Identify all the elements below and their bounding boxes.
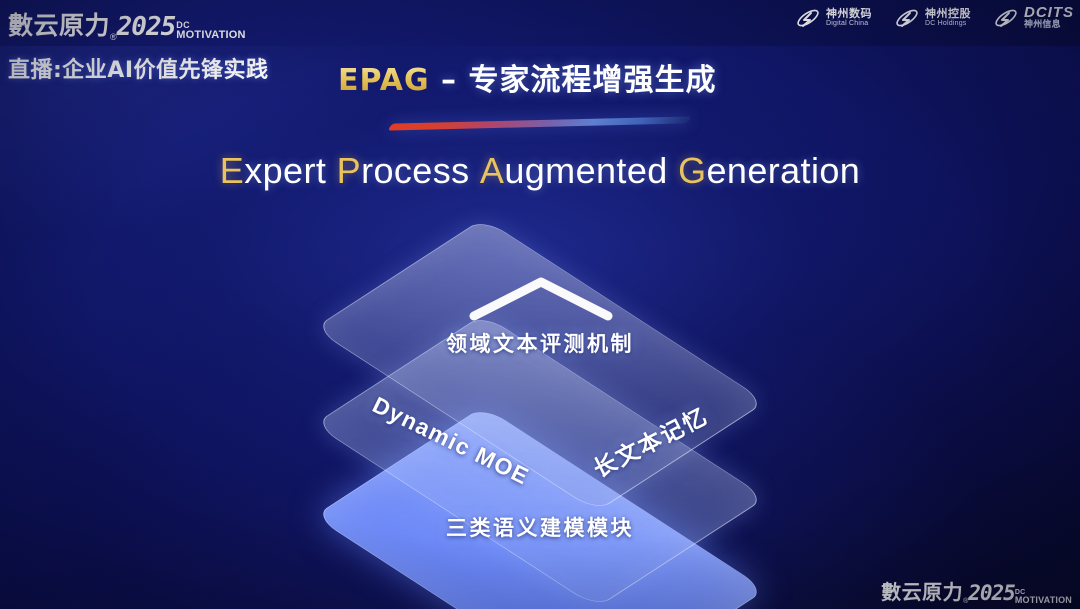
page-title-acronym: EPAG: [338, 63, 430, 98]
partner-logo-text: 神州控股 DC Holdings: [925, 8, 971, 27]
brand-dc-line2: MOTIVATION: [176, 30, 245, 41]
brand-logo: 數云原力 ® 2025 DC MOTIVATION: [8, 6, 246, 42]
brand-watermark: 數云原力 ® 2025 DC MOTIVATION: [881, 576, 1072, 605]
subtitle-rest-3: ugmented: [504, 150, 667, 191]
swirl-logo-icon: [894, 7, 920, 29]
subtitle-rest-1: xpert: [244, 150, 326, 191]
subtitle-cap-2: P: [337, 150, 361, 191]
partner-name-cn: 神州数码: [826, 8, 872, 20]
gradient-divider: [388, 116, 692, 130]
slide-canvas: 數云原力 ® 2025 DC MOTIVATION 神州数码 Digital C…: [0, 0, 1080, 609]
partner-logo-digital-china: 神州数码 Digital China: [795, 7, 872, 29]
subtitle-space-2: [470, 150, 480, 191]
brand-dc-motivation: DC MOTIVATION: [176, 21, 245, 41]
header-bar: 數云原力 ® 2025 DC MOTIVATION 神州数码 Digital C…: [0, 0, 1080, 46]
subtitle-space-3: [668, 150, 678, 191]
subtitle-cap-1: E: [220, 150, 244, 191]
watermark-dc-motivation: DC MOTIVATION: [1015, 589, 1072, 605]
partner-name-cn: 神州信息: [1024, 21, 1074, 31]
layer-stack-diagram: 领域文本评测机制 Dynamic MOE 长文本记忆 三类语义建模模块: [0, 212, 1080, 592]
watermark-brand-cn: 數云原力: [881, 576, 963, 605]
brand-registered-mark: ®: [110, 32, 117, 42]
subtitle-rest-2: rocess: [361, 150, 469, 191]
page-title-chinese: 专家流程增强生成: [468, 63, 716, 98]
watermark-dc-line2: MOTIVATION: [1015, 596, 1072, 605]
partner-logo-dc-holdings: 神州控股 DC Holdings: [894, 7, 971, 29]
partner-name-en: DCITS: [1024, 5, 1074, 21]
live-stream-title: 直播:企业AI价值先锋实践: [8, 52, 269, 84]
page-title: EPAG – 专家流程增强生成: [338, 55, 716, 99]
partner-name-en: DC Holdings: [925, 20, 971, 28]
subtitle-rest-4: eneration: [706, 150, 860, 191]
brand-year: 2025: [117, 12, 176, 42]
swirl-logo-icon: [993, 7, 1019, 29]
page-subtitle: Expert Process Augmented Generation: [0, 150, 1080, 192]
page-title-separator: –: [430, 63, 469, 98]
subtitle-space-1: [326, 150, 336, 191]
brand-name-cn: 數云原力: [8, 6, 110, 42]
watermark-year: 2025: [968, 581, 1015, 605]
swirl-logo-icon: [795, 7, 821, 29]
partner-logo-group: 神州数码 Digital China 神州控股 DC Holdings: [795, 5, 1074, 31]
partner-name-cn: 神州控股: [925, 8, 971, 20]
partner-logo-text: DCITS 神州信息: [1024, 5, 1074, 31]
partner-logo-text: 神州数码 Digital China: [826, 8, 872, 27]
subtitle-cap-3: A: [480, 150, 504, 191]
partner-logo-dcits: DCITS 神州信息: [993, 5, 1074, 31]
subtitle-cap-4: G: [678, 150, 706, 191]
partner-name-en: Digital China: [826, 20, 872, 28]
